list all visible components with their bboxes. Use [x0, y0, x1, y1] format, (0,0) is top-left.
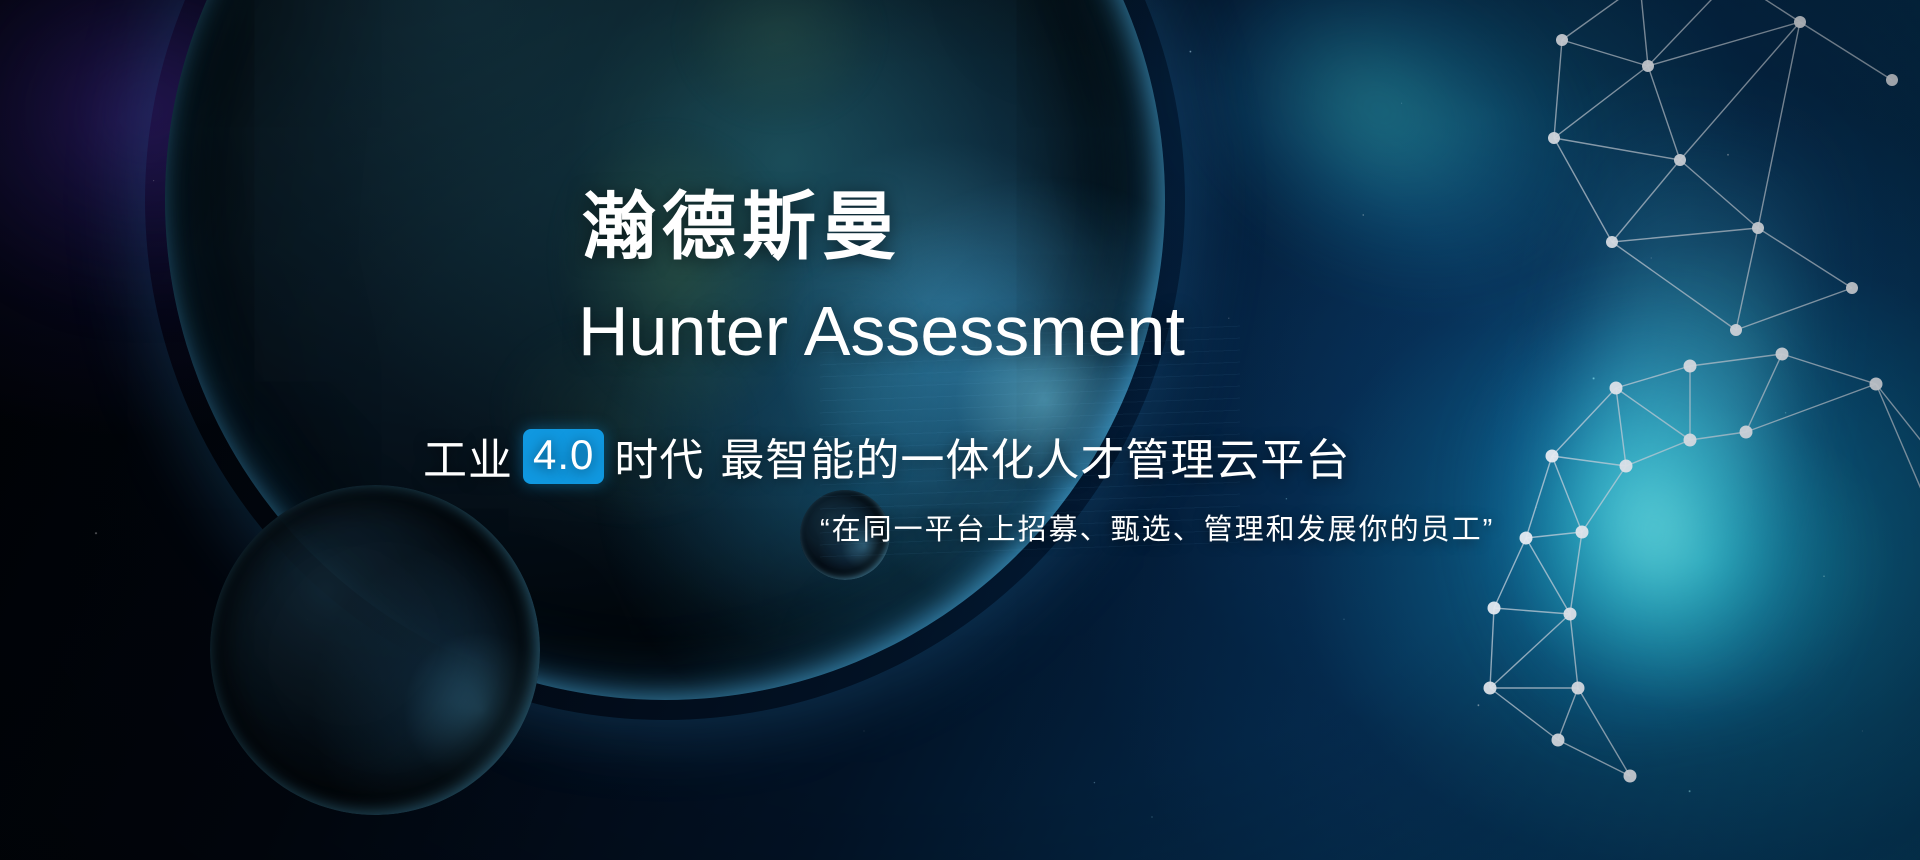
hero-banner: 瀚德斯曼 Hunter Assessment 工业 4.0 时代 最智能的一体化…: [0, 0, 1920, 860]
hero-subtitle-quote: “在同一平台上招募、甄选、管理和发展你的员工”: [820, 506, 1494, 548]
tagline: 工业 4.0 时代 最智能的一体化人才管理云平台: [423, 424, 1350, 488]
industry-version-badge: 4.0: [523, 429, 604, 484]
page-title-chinese: 瀚德斯曼: [582, 190, 902, 264]
hero-content: 瀚德斯曼 Hunter Assessment 工业 4.0 时代 最智能的一体化…: [0, 0, 1920, 860]
page-title-english: Hunter Assessment: [578, 296, 1185, 366]
tagline-era: 时代: [614, 424, 704, 488]
tagline-prefix: 工业: [423, 424, 513, 488]
tagline-description: 最智能的一体化人才管理云平台: [720, 424, 1350, 488]
